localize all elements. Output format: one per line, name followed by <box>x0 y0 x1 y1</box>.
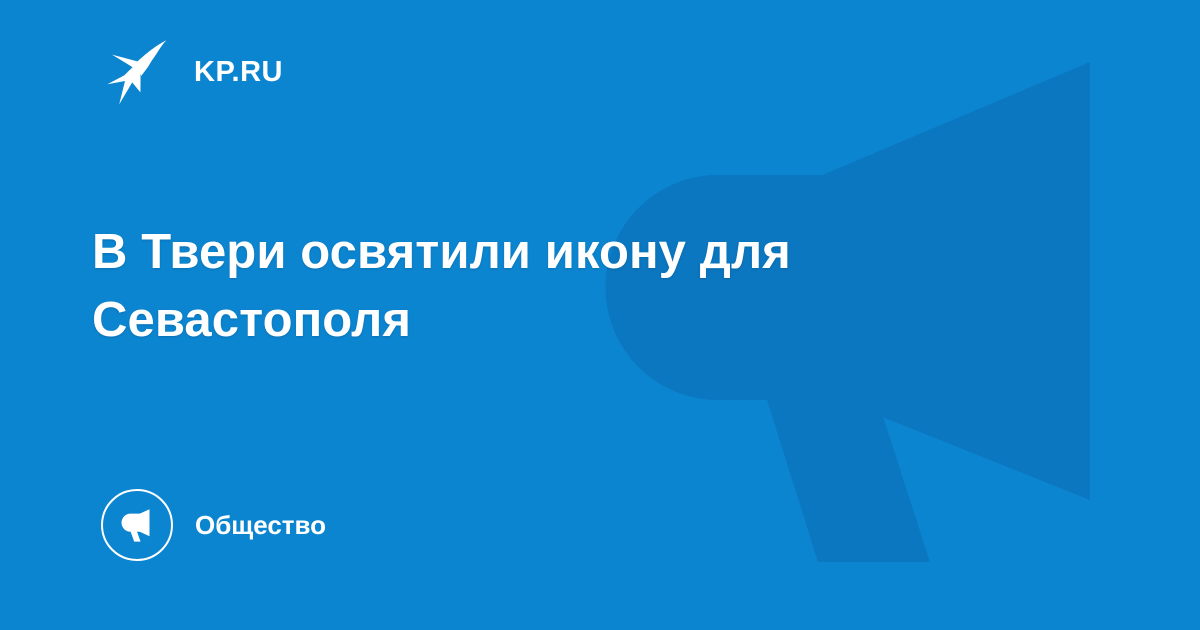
megaphone-icon <box>118 506 156 544</box>
category-label: Общество <box>195 512 326 538</box>
social-share-card: KP.RU В Твери освятили икону для Севасто… <box>0 0 1200 630</box>
swallow-bird-icon <box>104 36 176 108</box>
brand-logo[interactable]: KP.RU <box>104 36 283 108</box>
category-icon-circle <box>101 489 173 561</box>
brand-name: KP.RU <box>194 58 283 87</box>
headline: В Твери освятили икону для Севастополя <box>92 218 832 354</box>
category-badge[interactable]: Общество <box>101 489 326 561</box>
